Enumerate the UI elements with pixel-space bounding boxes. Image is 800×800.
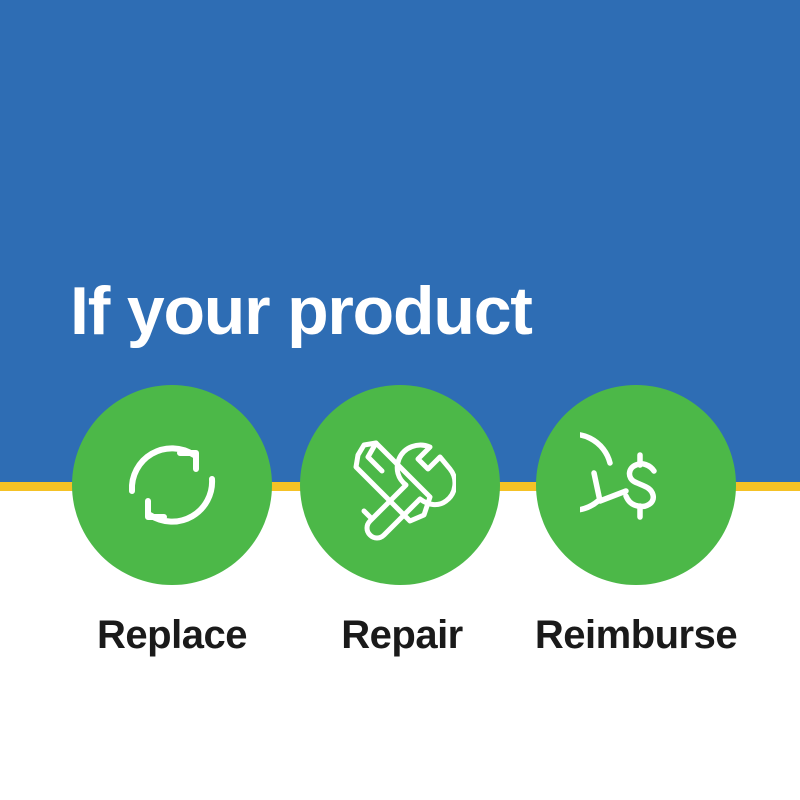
promo-graphic: If your product breaks down, we will: xyxy=(0,0,800,800)
benefit-label-repair: Repair xyxy=(272,612,532,658)
benefit-item-repair[interactable] xyxy=(300,385,500,585)
dollar-refund-arrow-icon xyxy=(580,429,692,541)
headline-line-1: If your product xyxy=(70,272,770,350)
benefit-item-replace[interactable] xyxy=(72,385,272,585)
screwdriver-wrench-tools-icon xyxy=(344,429,456,541)
benefit-icon-row xyxy=(0,385,800,585)
benefit-label-replace: Replace xyxy=(42,612,302,658)
benefit-item-reimburse[interactable] xyxy=(536,385,736,585)
circular-arrows-refresh-icon xyxy=(116,429,228,541)
benefit-label-row: Replace Repair Reimburse xyxy=(0,612,800,658)
benefit-label-reimburse: Reimburse xyxy=(506,612,766,658)
